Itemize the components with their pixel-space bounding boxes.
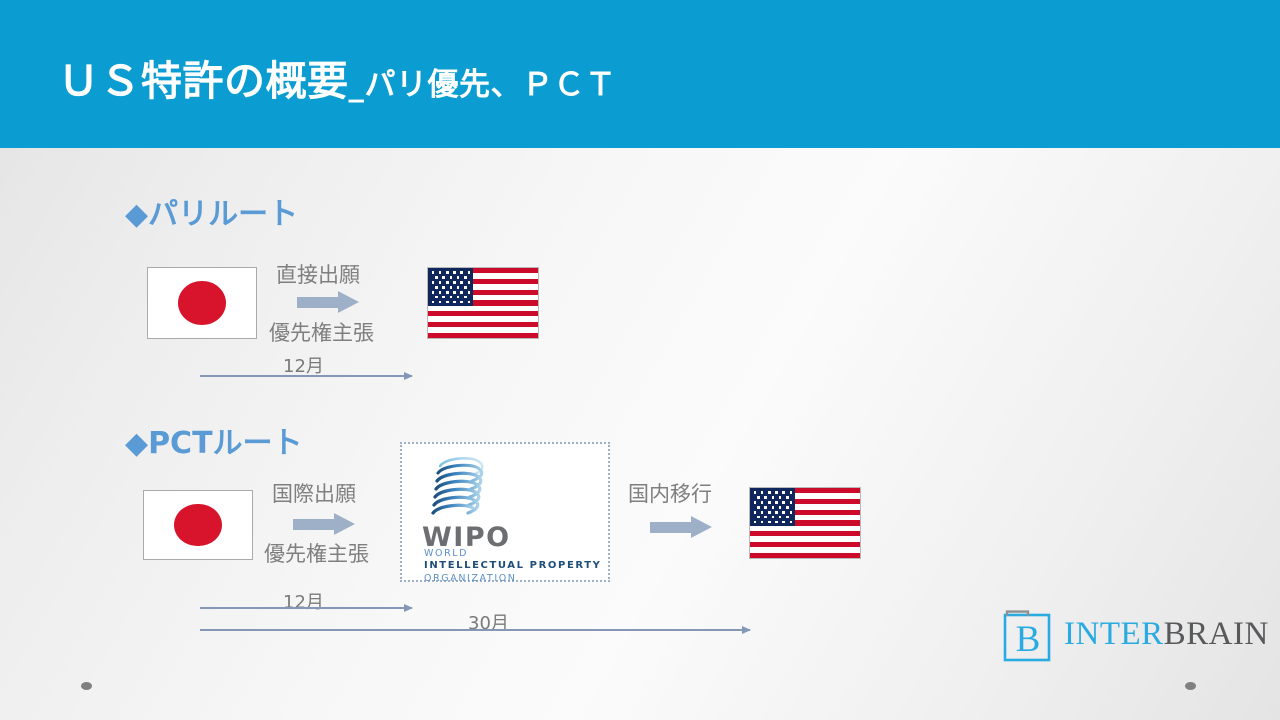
japan-flag-disc [178,281,226,325]
svg-text:B: B [1016,619,1041,660]
arrow-national-phase-icon [650,516,712,538]
wipo-line-intellectual-property: INTELLECTUAL PROPERTY [424,560,602,571]
wipo-line-world: WORLD [424,548,468,559]
japan-flag-paris [147,267,257,339]
interbrain-logo: B INTERBRAIN [1002,608,1260,663]
interbrain-b-mark-icon: B [1002,610,1054,662]
interbrain-wordmark: INTERBRAIN [1064,616,1269,653]
japan-flag-disc [174,504,222,547]
arrow-international-filing-icon [293,513,355,535]
wipo-line-organization: ORGANIZATION [424,573,517,584]
interbrain-word-second: BRAIN [1164,616,1269,652]
timeline-arrow-paris [200,371,412,381]
timeline-arrow-pct-30 [200,625,750,635]
usa-flag-canton [428,268,473,306]
label-priority-claim-paris: 優先権主張 [269,317,374,347]
arrow-direct-filing-icon [297,291,359,313]
usa-flag-canton [750,488,795,526]
label-international-filing: 国際出願 [272,478,356,508]
slide-canvas: ＵＳ特許の概要_パリ優先、ＰＣＴ ◆パリルート 直接出願 優先権主張 [0,0,1280,720]
wipo-helix-icon [424,456,498,522]
page-title: ＵＳ特許の概要_パリ優先、ＰＣＴ [58,47,617,107]
section-heading-pct: ◆PCTルート [125,418,303,462]
usa-flag-paris [427,267,539,339]
label-priority-claim-pct: 優先権主張 [264,538,369,568]
timeline-arrow-pct-12 [200,603,412,613]
section-heading-paris: ◆パリルート [125,189,298,233]
wipo-box: WIPO WORLD INTELLECTUAL PROPERTY ORGANIZ… [400,442,610,582]
usa-flag-pct [749,487,861,559]
footer-dot-left [81,682,92,690]
label-national-phase: 国内移行 [628,478,712,508]
page-title-sub: _パリ優先、ＰＣＴ [349,67,617,103]
label-direct-filing: 直接出願 [276,259,360,289]
footer-dot-right [1185,682,1196,690]
interbrain-word-first: INTER [1064,616,1164,652]
page-title-main: ＵＳ特許の概要 [58,57,349,105]
japan-flag-pct [143,490,253,560]
